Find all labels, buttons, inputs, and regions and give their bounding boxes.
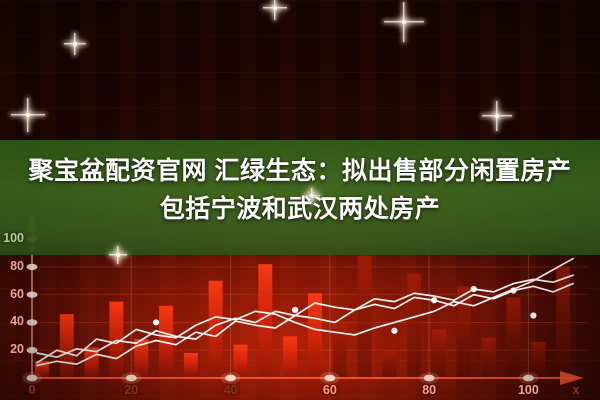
headline-line-2: 包括宁波和武汉两处房产 bbox=[0, 190, 600, 228]
screenshot-canvas: 20406080100020406080100x 聚宝盆配资官网 汇绿生态：拟出… bbox=[0, 0, 600, 400]
line-3 bbox=[37, 259, 573, 363]
headline: 聚宝盆配资官网 汇绿生态：拟出售部分闲置房产 包括宁波和武汉两处房产 bbox=[0, 152, 600, 228]
line-1 bbox=[37, 284, 573, 366]
headline-line-1: 聚宝盆配资官网 汇绿生态：拟出售部分闲置房产 bbox=[0, 152, 600, 190]
line-series-on-band bbox=[37, 259, 573, 366]
line-2 bbox=[37, 275, 573, 357]
